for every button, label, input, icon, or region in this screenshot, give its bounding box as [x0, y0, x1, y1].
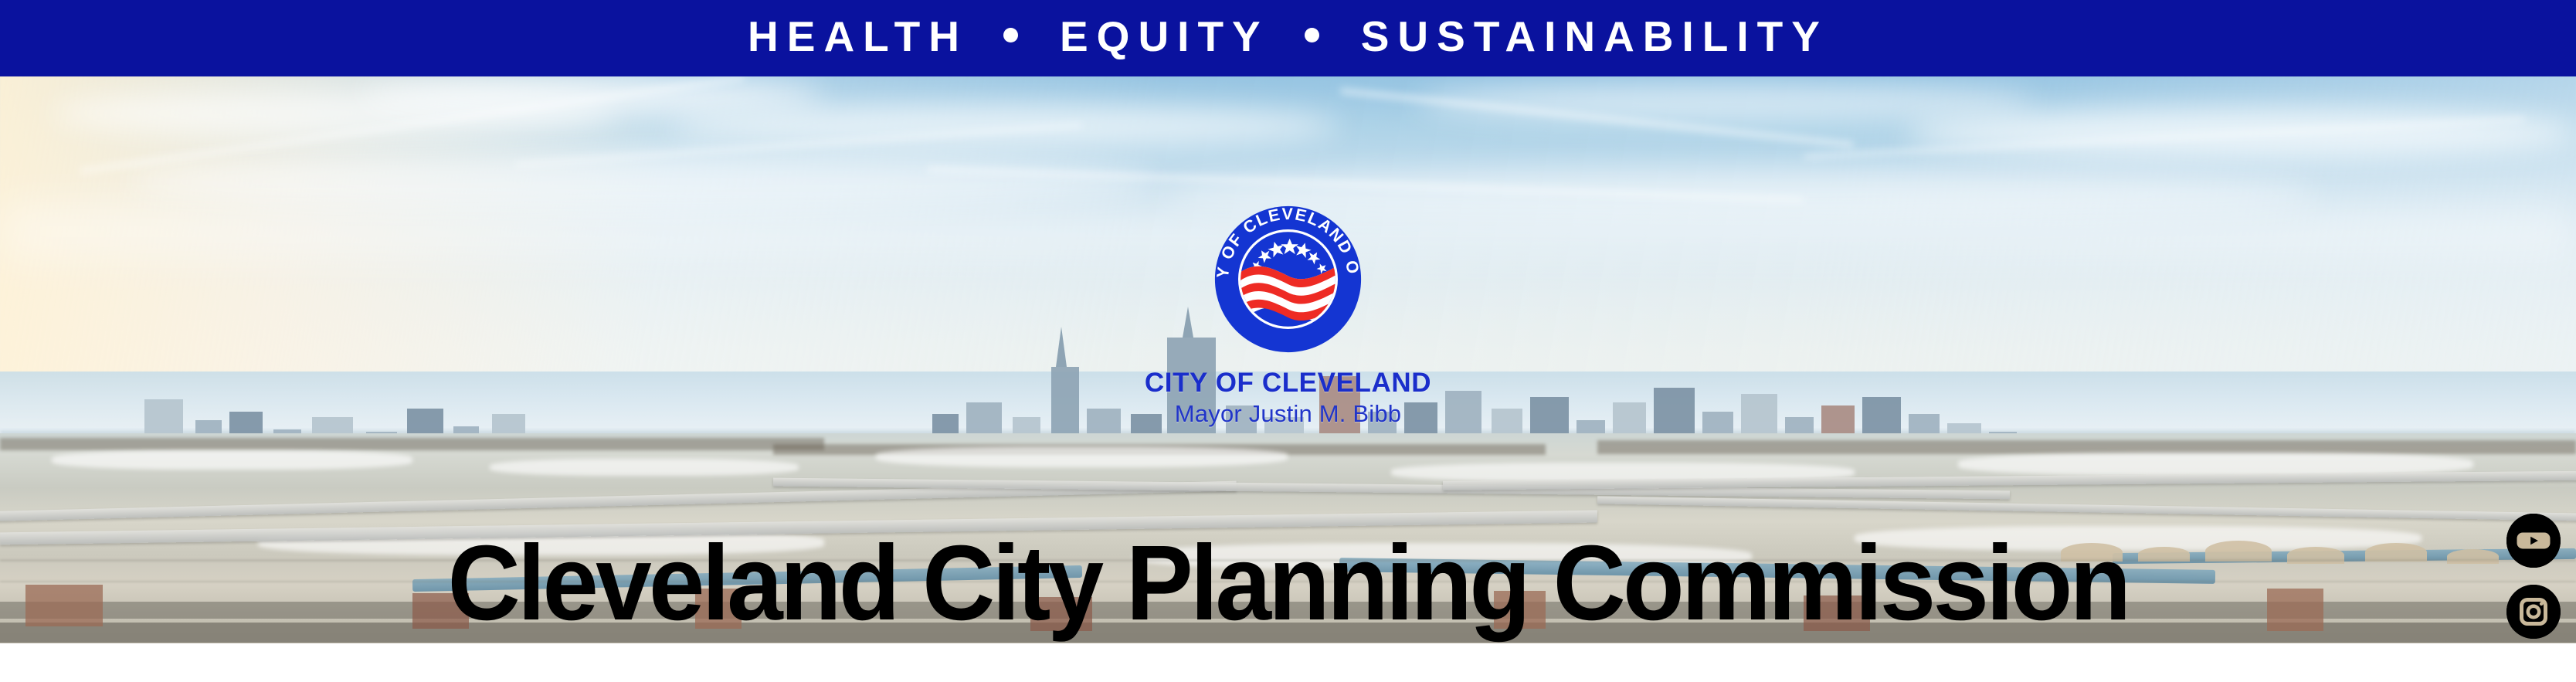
- social-links-rail: [2506, 514, 2561, 643]
- city-seal-lockup: CITY OF CLEVELAND OHIO: [1072, 196, 1505, 426]
- bottom-white-strip: [0, 643, 2576, 682]
- tagline-word-health: HEALTH: [740, 15, 976, 58]
- snow-patch: [876, 446, 1288, 467]
- mayor-name: Mayor Justin M. Bibb: [1072, 402, 1505, 427]
- snow-patch: [52, 450, 412, 469]
- cloud: [670, 104, 1339, 147]
- page-root: HEALTH EQUITY SUSTAINABILITY: [0, 0, 2576, 682]
- bullet-dot-icon: [1003, 28, 1018, 42]
- cloud: [129, 154, 1159, 210]
- hero-banner-photo: CITY OF CLEVELAND OHIO: [0, 76, 2576, 643]
- tagline-word-sustainability: SUSTAINABILITY: [1353, 15, 1836, 58]
- page-title: Cleveland City Planning Commission: [71, 530, 2506, 636]
- tagline-banner: HEALTH EQUITY SUSTAINABILITY: [0, 0, 2576, 76]
- organization-name: CITY OF CLEVELAND: [1072, 369, 1505, 398]
- snow-patch: [490, 459, 799, 476]
- instagram-icon[interactable]: [2506, 585, 2561, 639]
- tagline-word-equity: EQUITY: [1052, 15, 1277, 58]
- cloud: [1417, 83, 2035, 122]
- city-of-cleveland-seal-icon: CITY OF CLEVELAND OHIO: [1205, 196, 1371, 362]
- tree-line: [0, 438, 824, 450]
- tagline-text: HEALTH EQUITY SUSTAINABILITY: [740, 15, 1836, 58]
- terminal-tower-spire: [1056, 327, 1067, 367]
- highway: [1597, 496, 2576, 521]
- youtube-icon[interactable]: [2506, 514, 2561, 568]
- tree-line: [1597, 440, 2576, 454]
- cloud: [361, 80, 824, 112]
- bullet-dot-icon: [1305, 28, 1319, 42]
